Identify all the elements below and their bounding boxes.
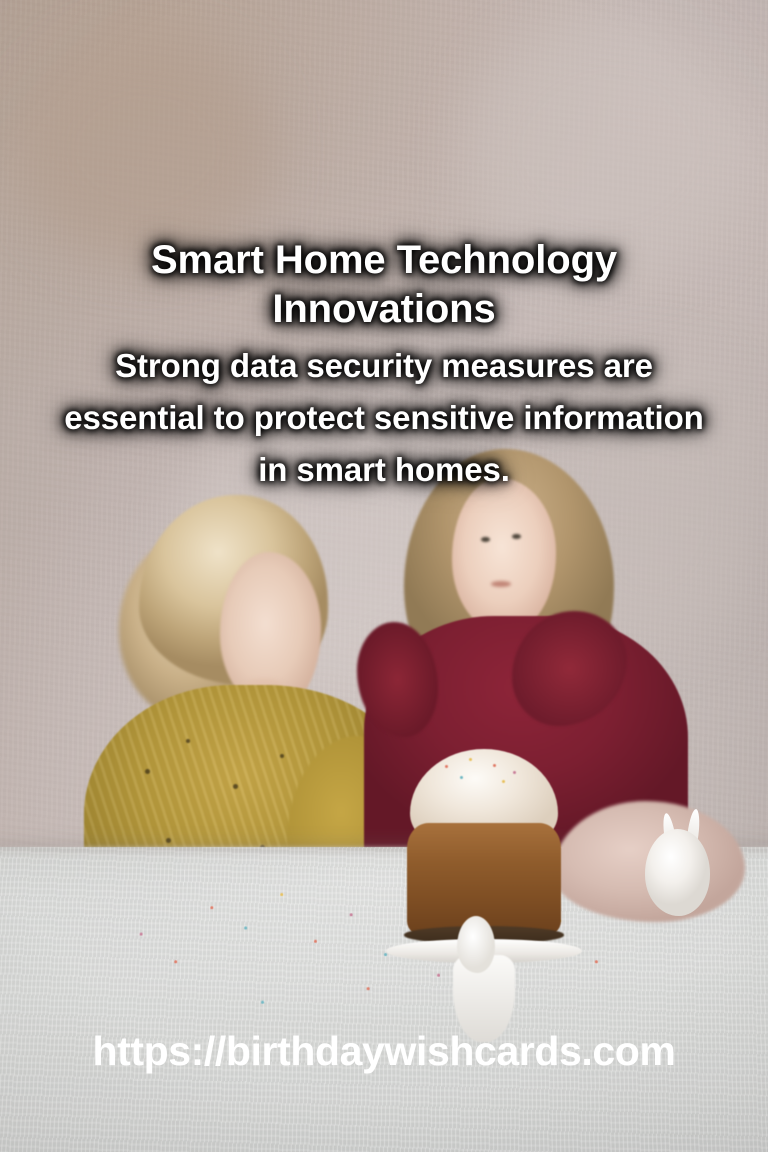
- sprinkle: [594, 960, 597, 963]
- mouth: [491, 581, 511, 587]
- sprinkle: [261, 1000, 264, 1003]
- eye: [512, 534, 521, 539]
- card-message: Strong data security measures are essent…: [62, 340, 706, 496]
- text-overlay: Smart Home Technology Innovations Strong…: [0, 236, 768, 496]
- sprinkle: [513, 771, 516, 774]
- card-title: Smart Home Technology Innovations: [62, 236, 706, 334]
- website-url[interactable]: https://birthdaywishcards.com: [92, 1028, 675, 1074]
- floral-motif: [186, 739, 190, 743]
- sprinkle: [469, 758, 472, 761]
- floral-motif: [166, 838, 171, 843]
- sprinkle: [384, 953, 387, 956]
- sprinkle: [460, 776, 463, 779]
- sprinkle: [493, 764, 496, 767]
- sprinkle: [174, 960, 177, 963]
- cake-stand-bunny-foot: [457, 916, 495, 974]
- sprinkle: [349, 913, 352, 916]
- greeting-card: Smart Home Technology Innovations Strong…: [0, 0, 768, 1152]
- sprinkle: [437, 973, 440, 976]
- sprinkle: [210, 906, 213, 909]
- wall-blotch: [15, 35, 276, 263]
- sprinkle: [502, 780, 505, 783]
- bunny-figurine: [645, 829, 710, 915]
- sprinkle: [280, 893, 283, 896]
- sprinkle: [314, 939, 317, 942]
- sprinkle: [366, 987, 369, 990]
- website-url-bar: https://birthdaywishcards.com: [0, 1028, 768, 1075]
- sprinkle: [445, 765, 448, 768]
- eye: [481, 537, 490, 542]
- face: [452, 478, 557, 634]
- background-photo: [0, 0, 768, 1152]
